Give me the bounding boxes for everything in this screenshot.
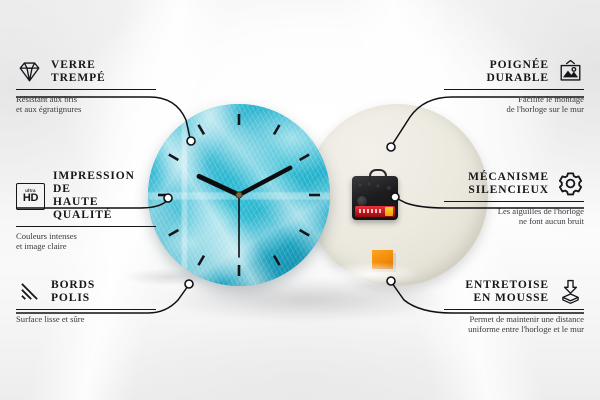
down-arrow-layers-icon bbox=[557, 278, 584, 305]
feature-title: VERRE TREMPÉ bbox=[51, 59, 106, 85]
clock-marker bbox=[274, 256, 280, 266]
feature-title-line1: ENTRETOISE bbox=[444, 279, 549, 292]
feature-desc-line2: ne font aucun bruit bbox=[444, 216, 584, 227]
feature-desc-line1: Permet de maintenir une distance bbox=[444, 314, 584, 325]
feature-header: MÉCANISME SILENCIEUX bbox=[444, 170, 584, 197]
battery-label bbox=[359, 209, 383, 213]
feature-impression-haute-qualite: ultra HD IMPRESSION DE HAUTE QUALITÉ Cou… bbox=[16, 170, 156, 252]
feature-header: VERRE TREMPÉ bbox=[16, 58, 156, 85]
hand-minute bbox=[239, 168, 290, 195]
mechanism-detail bbox=[356, 181, 394, 195]
infographic-canvas: VERRE TREMPÉ Résistant aux bris et aux é… bbox=[0, 0, 600, 400]
feature-description: Couleurs intenses et image claire bbox=[16, 231, 156, 252]
feature-rule bbox=[16, 309, 156, 310]
clock-marker bbox=[199, 125, 205, 135]
feature-title-line2: SILENCIEUX bbox=[444, 184, 549, 197]
clock-marker bbox=[199, 256, 205, 266]
feature-header: BORDS POLIS bbox=[16, 278, 156, 305]
clock-mechanism bbox=[352, 176, 398, 220]
feature-title-line1: POIGNÉE bbox=[444, 59, 549, 72]
feature-desc-line2: de l'horloge sur le mur bbox=[444, 104, 584, 115]
feature-desc-line2: et image claire bbox=[16, 241, 156, 252]
feature-title: MÉCANISME SILENCIEUX bbox=[444, 171, 549, 197]
mechanism-dial bbox=[357, 196, 367, 206]
feature-title-line2: TREMPÉ bbox=[51, 72, 106, 85]
feature-title-line2: POLIS bbox=[51, 292, 95, 305]
feature-title: POIGNÉE DURABLE bbox=[444, 59, 549, 85]
feature-title-line1: BORDS bbox=[51, 279, 95, 292]
clock-marker bbox=[300, 155, 310, 161]
feature-mecanisme-silencieux: MÉCANISME SILENCIEUX Les aiguilles de l'… bbox=[444, 170, 584, 227]
clock-marker bbox=[300, 230, 310, 236]
feature-title-line2: DURABLE bbox=[444, 72, 549, 85]
feature-title: ENTRETOISE EN MOUSSE bbox=[444, 279, 549, 305]
feature-description: Facilite le montage de l'horloge sur le … bbox=[444, 94, 584, 115]
picture-frame-hanger-icon bbox=[557, 58, 584, 85]
feature-title-line2: HAUTE QUALITÉ bbox=[53, 196, 156, 222]
feature-title-line1: VERRE bbox=[51, 59, 106, 72]
feature-desc-line2: et aux égratignures bbox=[16, 104, 156, 115]
feature-rule bbox=[16, 89, 156, 90]
feature-description: Résistant aux bris et aux égratignures bbox=[16, 94, 156, 115]
feature-title: IMPRESSION DE HAUTE QUALITÉ bbox=[53, 170, 156, 222]
feature-verre-trempe: VERRE TREMPÉ Résistant aux bris et aux é… bbox=[16, 58, 156, 115]
ultra-hd-icon: ultra HD bbox=[16, 183, 45, 210]
feature-desc-line1: Les aiguilles de l'horloge bbox=[444, 206, 584, 217]
feature-description: Surface lisse et sûre bbox=[16, 314, 156, 325]
battery-plus-terminal bbox=[385, 207, 393, 216]
ultra-hd-icon-large-text: HD bbox=[23, 193, 38, 204]
clock-marker bbox=[274, 125, 280, 135]
feature-rule bbox=[444, 89, 584, 90]
feature-description: Permet de maintenir une distance uniform… bbox=[444, 314, 584, 335]
battery bbox=[355, 206, 395, 217]
feature-title-line1: MÉCANISME bbox=[444, 171, 549, 184]
feature-header: POIGNÉE DURABLE bbox=[444, 58, 584, 85]
clock-marker bbox=[169, 155, 179, 161]
feature-desc-line1: Facilite le montage bbox=[444, 94, 584, 105]
feature-rule bbox=[444, 201, 584, 202]
feature-bords-polis: BORDS POLIS Surface lisse et sûre bbox=[16, 278, 156, 324]
hand-hour bbox=[199, 176, 239, 195]
diagonal-lines-icon bbox=[16, 278, 43, 305]
feature-description: Les aiguilles de l'horloge ne font aucun… bbox=[444, 206, 584, 227]
feature-desc-line1: Résistant aux bris bbox=[16, 94, 156, 105]
feature-title-line2: EN MOUSSE bbox=[444, 292, 549, 305]
feature-entretoise-en-mousse: ENTRETOISE EN MOUSSE Permet de maintenir… bbox=[444, 278, 584, 335]
feature-header: ultra HD IMPRESSION DE HAUTE QUALITÉ bbox=[16, 170, 156, 222]
feature-rule bbox=[16, 226, 156, 227]
clock-marker bbox=[169, 230, 179, 236]
feature-rule bbox=[444, 309, 584, 310]
feature-desc-line1: Surface lisse et sûre bbox=[16, 314, 156, 325]
feature-desc-line1: Couleurs intenses bbox=[16, 231, 156, 242]
feature-title-line1: IMPRESSION DE bbox=[53, 170, 156, 196]
surface-glare bbox=[300, 256, 440, 292]
mechanism-hanger-loop bbox=[369, 169, 387, 181]
feature-header: ENTRETOISE EN MOUSSE bbox=[444, 278, 584, 305]
diamond-icon bbox=[16, 58, 43, 85]
gear-icon bbox=[557, 170, 584, 197]
feature-desc-line2: uniforme entre l'horloge et le mur bbox=[444, 324, 584, 335]
feature-poignee-durable: POIGNÉE DURABLE Facilite le montage de l… bbox=[444, 58, 584, 115]
feature-title: BORDS POLIS bbox=[51, 279, 95, 305]
